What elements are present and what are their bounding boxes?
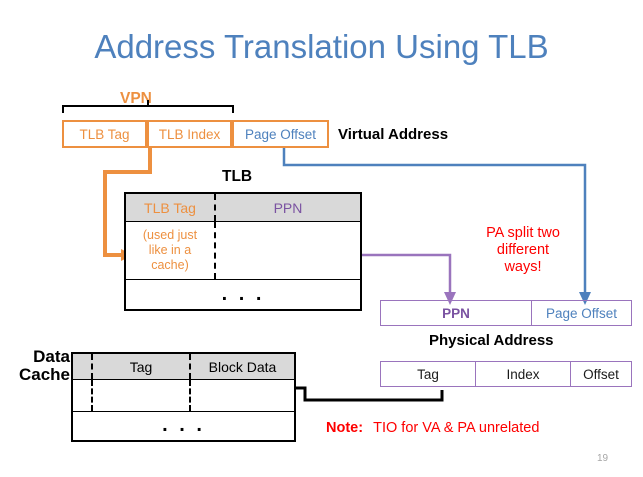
- pa-field-offset[interactable]: Offset: [570, 361, 632, 387]
- physical-address-caption: Physical Address: [429, 332, 554, 349]
- tlb-table: TLB Tag PPN (used just like in a cache) …: [124, 192, 362, 311]
- pa-split-note-line-1: PA split two: [468, 225, 578, 242]
- tlb-tag-note-line-2: like in a: [143, 243, 197, 258]
- tlb-column-header-tag: TLB Tag: [126, 194, 214, 221]
- pa-split-note-line-2: different: [468, 242, 578, 259]
- tlb-tag-note-line-1: (used just: [143, 228, 197, 243]
- tlb-tag-note-line-3: cache): [143, 258, 197, 273]
- vpn-bracket: [63, 100, 233, 113]
- va-field-page-offset-label: Page Offset: [245, 127, 316, 142]
- virtual-address-caption: Virtual Address: [338, 126, 448, 143]
- va-field-page-offset[interactable]: Page Offset: [232, 120, 329, 148]
- data-cache-label: Data Cache: [8, 348, 70, 384]
- pa-field-ppn-label: PPN: [442, 306, 470, 321]
- tlb-column-header-ppn: PPN: [214, 194, 360, 221]
- pa-split-note: PA split two different ways!: [468, 225, 578, 276]
- tlb-ellipsis-row: . . .: [126, 280, 360, 309]
- pa-field-index-label: Index: [506, 367, 539, 382]
- slide-canvas: Address Translation Using TLB VPN: [0, 0, 643, 477]
- data-cache-valid-header-cell: [73, 354, 91, 379]
- pa-field-page-offset[interactable]: Page Offset: [531, 300, 632, 326]
- footer-note-prefix: Note:: [326, 420, 363, 436]
- tlb-tag-note: (used just like in a cache): [143, 228, 197, 273]
- data-cache-entry-row: [73, 380, 294, 412]
- va-field-tlb-tag-label: TLB Tag: [79, 127, 129, 142]
- data-cache-ellipsis-row: . . .: [73, 412, 294, 439]
- data-cache-column-header-block-data: Block Data: [189, 354, 294, 379]
- pa-field-tag[interactable]: Tag: [380, 361, 476, 387]
- data-cache-block-data-cell: [189, 380, 294, 411]
- data-cache-valid-cell: [73, 380, 91, 411]
- tlb-ppn-entry-cell: [214, 222, 360, 279]
- va-field-tlb-index[interactable]: TLB Index: [147, 120, 232, 148]
- tlb-ellipsis: . . .: [222, 283, 265, 306]
- pa-field-index[interactable]: Index: [475, 361, 571, 387]
- page-number: 19: [597, 453, 608, 464]
- pa-split-note-line-3: ways!: [468, 259, 578, 276]
- va-field-tlb-index-label: TLB Index: [159, 127, 221, 142]
- data-cache-header-row: Tag Block Data: [73, 354, 294, 380]
- tlb-entry-row: (used just like in a cache): [126, 222, 360, 280]
- data-cache-ellipsis: . . .: [162, 414, 205, 437]
- pa-field-offset-label: Offset: [583, 367, 619, 382]
- tlb-tag-note-cell: (used just like in a cache): [126, 222, 214, 279]
- data-cache-table: Tag Block Data . . .: [71, 352, 296, 442]
- data-cache-column-header-tag: Tag: [91, 354, 189, 379]
- footer-note: Note: TIO for VA & PA unrelated: [326, 420, 539, 436]
- va-field-tlb-tag[interactable]: TLB Tag: [62, 120, 147, 148]
- data-cache-label-line-1: Data: [8, 348, 70, 366]
- pa-field-tag-label: Tag: [417, 367, 439, 382]
- ppn-connector-arrow: [362, 255, 456, 305]
- footer-note-text: TIO for VA & PA unrelated: [373, 420, 539, 436]
- tlb-caption: TLB: [222, 168, 252, 186]
- tlb-header-row: TLB Tag PPN: [126, 194, 360, 222]
- data-cache-tag-cell: [91, 380, 189, 411]
- pa-field-page-offset-label: Page Offset: [546, 306, 617, 321]
- data-cache-label-line-2: Cache: [8, 366, 70, 384]
- pa-field-ppn[interactable]: PPN: [380, 300, 532, 326]
